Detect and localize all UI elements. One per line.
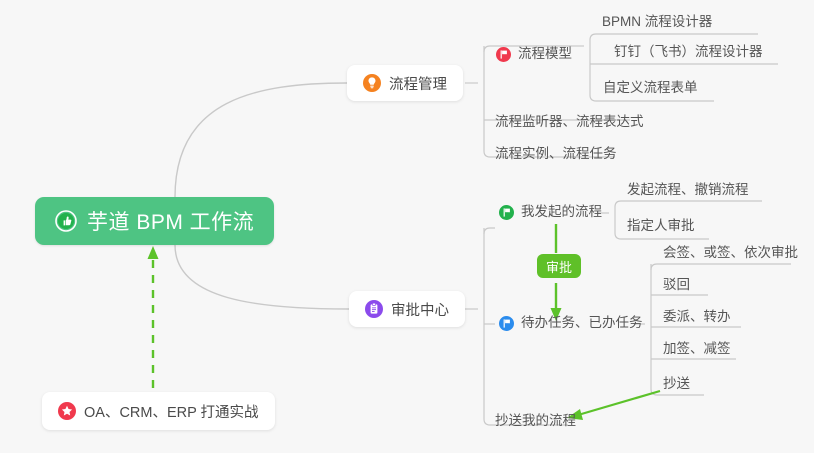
node-integration-card[interactable]: OA、CRM、ERP 打通实战 xyxy=(42,392,275,430)
node-dingtalk-feishu-designer[interactable]: 钉钉（飞书）流程设计器 xyxy=(610,39,767,65)
flag-icon xyxy=(496,47,511,62)
node-label: 审批中心 xyxy=(391,299,449,320)
badge-label: 审批 xyxy=(546,257,572,276)
node-label: 抄送我的流程 xyxy=(495,408,576,434)
edge-root-to-approval-center xyxy=(175,245,349,309)
flag-icon xyxy=(499,316,514,331)
edge-root-to-process-management xyxy=(175,83,347,197)
node-process-model[interactable]: 流程模型 xyxy=(492,41,576,67)
node-label: BPMN 流程设计器 xyxy=(602,9,712,35)
node-approval-center[interactable]: 审批中心 xyxy=(349,291,465,327)
node-label: 自定义流程表单 xyxy=(603,75,698,101)
node-label: 加签、减签 xyxy=(663,336,731,362)
node-process-management[interactable]: 流程管理 xyxy=(347,65,463,101)
node-add-remove-sign[interactable]: 加签、减签 xyxy=(659,336,735,362)
node-bpmn-designer[interactable]: BPMN 流程设计器 xyxy=(598,9,716,35)
node-countersign-orsign-sequential[interactable]: 会签、或签、依次审批 xyxy=(659,240,802,266)
node-todo-done-task[interactable]: 待办任务、已办任务 xyxy=(495,310,647,336)
node-label: 流程管理 xyxy=(389,73,447,94)
node-cc-to-me[interactable]: 抄送我的流程 xyxy=(491,408,580,434)
node-label: 发起流程、撤销流程 xyxy=(627,177,749,203)
mindmap-canvas: 芋道 BPM 工作流 流程管理 审批中心 xyxy=(0,0,814,453)
node-label: 流程模型 xyxy=(518,41,572,67)
node-assignee-approval[interactable]: 指定人审批 xyxy=(623,213,699,239)
clipboard-icon xyxy=(365,300,383,318)
node-reject[interactable]: 驳回 xyxy=(659,272,694,298)
badge-approval[interactable]: 审批 xyxy=(537,254,581,278)
node-delegate-transfer[interactable]: 委派、转办 xyxy=(659,304,735,330)
node-label: 会签、或签、依次审批 xyxy=(663,240,798,266)
node-carbon-copy[interactable]: 抄送 xyxy=(659,371,694,397)
node-label: 待办任务、已办任务 xyxy=(521,310,643,336)
node-custom-process-form[interactable]: 自定义流程表单 xyxy=(599,75,702,101)
root-label: 芋道 BPM 工作流 xyxy=(87,206,254,236)
flag-icon xyxy=(499,205,514,220)
node-label: 流程监听器、流程表达式 xyxy=(495,109,644,135)
node-label: 委派、转办 xyxy=(663,304,731,330)
edge-green-cc-to-ccme xyxy=(578,391,660,415)
node-label: 驳回 xyxy=(663,272,690,298)
node-listener-expression[interactable]: 流程监听器、流程表达式 xyxy=(491,109,648,135)
node-label: 流程实例、流程任务 xyxy=(495,141,617,167)
thumbs-up-icon xyxy=(55,210,77,232)
edge-ac-my xyxy=(484,228,495,234)
node-label: 钉钉（飞书）流程设计器 xyxy=(614,39,763,65)
root-node[interactable]: 芋道 BPM 工作流 xyxy=(35,197,274,245)
node-my-initiated[interactable]: 我发起的流程 xyxy=(495,199,606,225)
node-start-cancel-process[interactable]: 发起流程、撤销流程 xyxy=(623,177,753,203)
star-icon xyxy=(58,402,76,420)
lightbulb-icon xyxy=(363,74,381,92)
node-label: 指定人审批 xyxy=(627,213,695,239)
node-instance-task[interactable]: 流程实例、流程任务 xyxy=(491,141,621,167)
node-label: 抄送 xyxy=(663,371,690,397)
arrowhead-integration-to-root xyxy=(148,246,159,259)
node-label: OA、CRM、ERP 打通实战 xyxy=(84,401,259,422)
node-label: 我发起的流程 xyxy=(521,199,602,225)
